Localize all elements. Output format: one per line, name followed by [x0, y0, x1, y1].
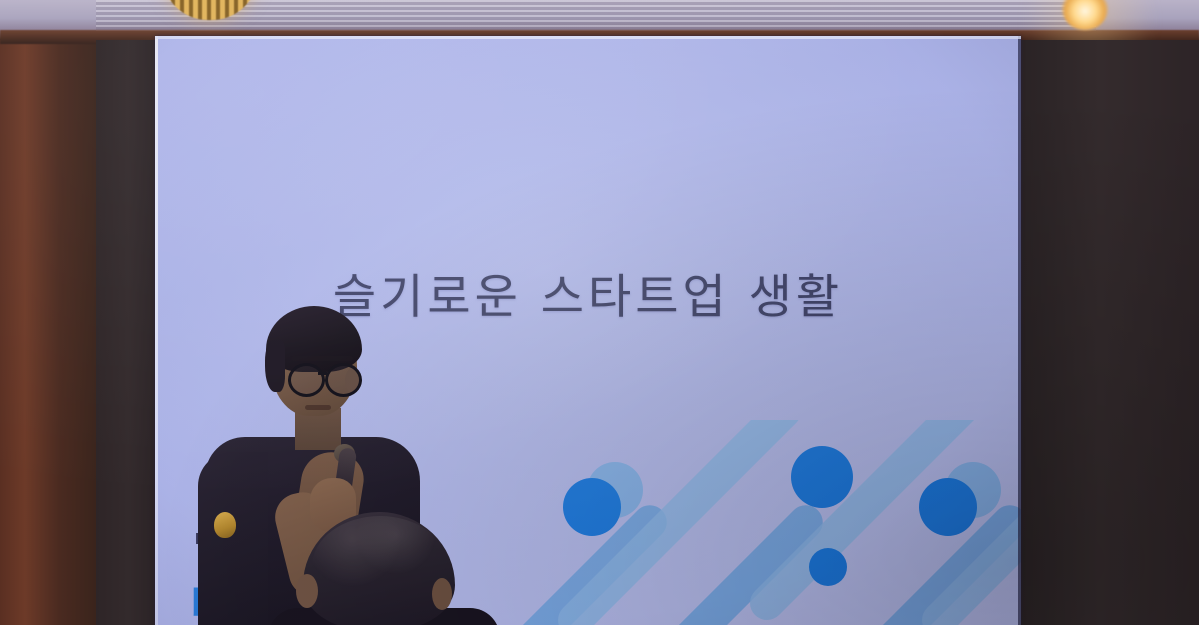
screen-edge-left [155, 36, 158, 625]
panel-left [96, 40, 155, 625]
slide-title: 슬기로운 스타트업 생활 [155, 258, 1021, 327]
wall-left [0, 0, 96, 625]
decoration-dot [563, 478, 621, 536]
photo-scene: 슬기로운 스타트업 생활 E bu [0, 0, 1199, 625]
screen-edge-top [155, 36, 1021, 39]
panel-right [1020, 40, 1199, 625]
projection-screen: 슬기로운 스타트업 생활 E bu [155, 36, 1021, 625]
screen-edge-right [1018, 36, 1021, 625]
decoration-dot [809, 548, 847, 586]
decoration-dot [919, 478, 977, 536]
slide-footer-line1: E [195, 531, 207, 549]
slide-decoration [155, 420, 1021, 625]
decoration-dot [791, 446, 853, 508]
slide-footer-line2: bu [191, 582, 237, 625]
ceiling-slats [96, 0, 1096, 34]
